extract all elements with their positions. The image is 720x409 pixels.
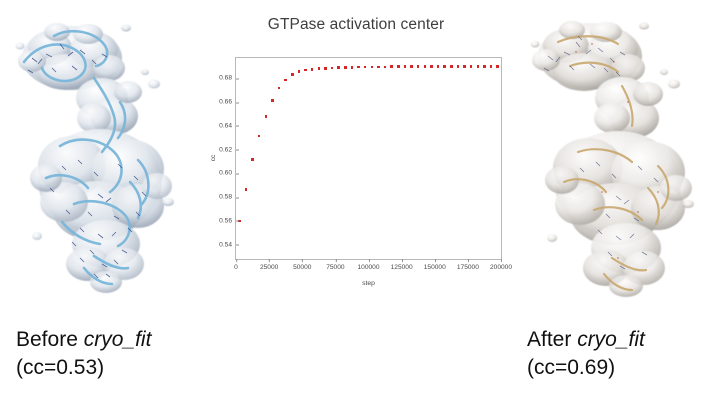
x-axis-tick: 200000 [490, 259, 512, 271]
y-axis-tick: 0.64 [219, 122, 236, 129]
data-point [337, 66, 340, 69]
chart-title: GTPase activation center [200, 16, 512, 34]
y-axis-tick: 0.66 [219, 99, 236, 106]
data-point [437, 65, 440, 68]
data-point [470, 65, 473, 68]
data-point [404, 65, 407, 68]
x-axis-tick: 25000 [260, 259, 278, 271]
data-point [324, 67, 327, 70]
caption-before-program: cryo_fit [84, 328, 152, 351]
data-point [443, 65, 446, 68]
data-point [384, 66, 387, 69]
data-point [490, 65, 493, 68]
data-point [291, 73, 294, 76]
data-point [265, 115, 268, 118]
x-axis-tick: 150000 [424, 259, 446, 271]
data-point [483, 65, 486, 68]
plot-area [236, 58, 501, 259]
data-point [430, 65, 433, 68]
data-point [357, 66, 360, 69]
y-axis-tick: 0.60 [219, 170, 236, 177]
data-point [271, 99, 274, 102]
data-point [410, 65, 413, 68]
caption-before-value: (cc=0.53) [16, 354, 151, 382]
x-axis-tick: 175000 [457, 259, 479, 271]
ribosome-density-before-svg [2, 6, 202, 316]
x-axis-tick: 0 [234, 259, 238, 271]
data-point [245, 188, 248, 191]
data-point [351, 66, 354, 69]
caption-after-prefix: After [527, 328, 577, 351]
y-axis-tick: 0.68 [219, 75, 236, 82]
caption-after-value: (cc=0.69) [527, 354, 645, 382]
data-point [457, 65, 460, 68]
density-blobs-after [531, 21, 695, 297]
x-axis-tick: 50000 [293, 259, 311, 271]
data-point [463, 65, 466, 68]
data-point [397, 65, 400, 68]
y-axis-label: cc [210, 155, 217, 162]
data-point [371, 66, 374, 69]
data-point [284, 79, 287, 82]
data-point [450, 65, 453, 68]
plot-frame: 0.540.560.580.600.620.640.660.6802500050… [235, 57, 502, 260]
y-axis-tick: 0.62 [219, 146, 236, 153]
density-blobs-before [16, 23, 175, 293]
data-point [278, 87, 281, 90]
x-axis-tick: 125000 [391, 259, 413, 271]
cc-vs-step-chart: GTPase activation center cc 0.540.560.58… [200, 8, 512, 308]
data-point [344, 66, 347, 69]
x-axis-tick: 75000 [326, 259, 344, 271]
data-point [390, 65, 393, 68]
data-point [298, 70, 301, 73]
caption-before: Before cryo_fit (cc=0.53) [16, 326, 151, 382]
data-point [417, 65, 420, 68]
data-point [424, 65, 427, 68]
y-axis-tick: 0.58 [219, 194, 236, 201]
data-point [318, 67, 321, 70]
structure-image-after [518, 6, 718, 316]
structure-image-before [2, 6, 202, 316]
data-point [331, 67, 334, 70]
caption-before-prefix: Before [16, 328, 84, 351]
data-point [251, 158, 254, 161]
data-point [377, 66, 380, 69]
caption-after: After cryo_fit (cc=0.69) [527, 326, 645, 382]
data-point [311, 68, 314, 71]
ribosome-density-after-svg [518, 6, 718, 316]
data-point [304, 69, 307, 72]
caption-after-program: cryo_fit [577, 328, 645, 351]
data-point [258, 135, 261, 138]
data-point [477, 65, 480, 68]
x-axis-label: step [235, 280, 502, 287]
data-point [364, 66, 367, 69]
data-point [496, 65, 499, 68]
y-axis-tick: 0.54 [219, 241, 236, 248]
y-axis-tick: 0.56 [219, 217, 236, 224]
x-axis-tick: 100000 [357, 259, 379, 271]
